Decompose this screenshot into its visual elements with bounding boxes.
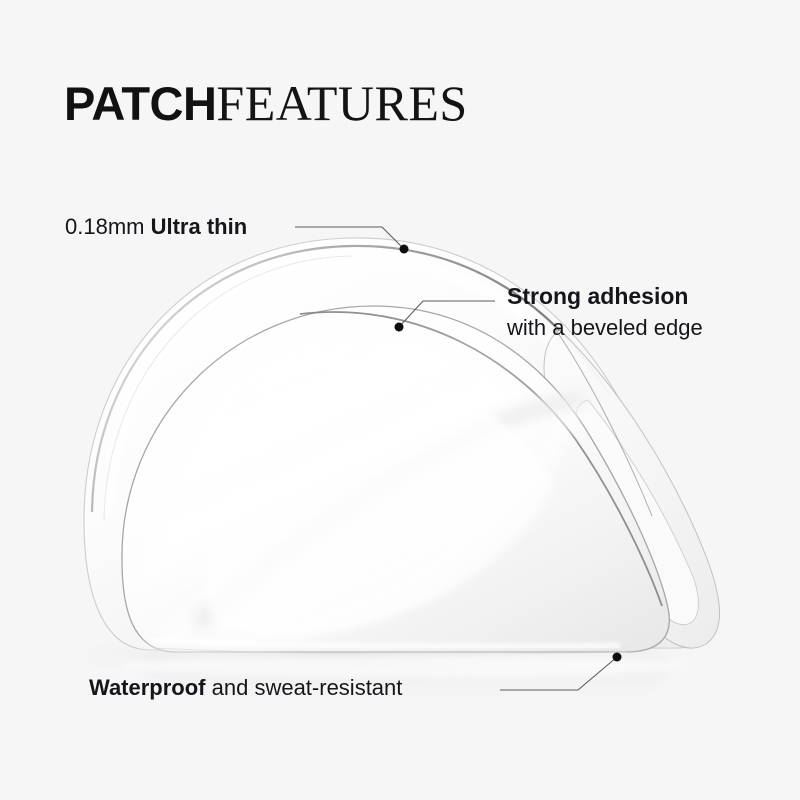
leader-strong-adhesion <box>395 301 496 332</box>
infographic-canvas: PATCHFEATURES 0.18mm Ultra thin Strong a… <box>0 0 800 800</box>
callout-strong-adhesion-emphasis: Strong adhesion <box>507 283 688 309</box>
leader-ultra-thin <box>295 227 409 254</box>
callout-ultra-thin-prefix: 0.18mm <box>65 214 151 239</box>
callout-dot-ultra-thin <box>400 245 409 254</box>
callout-waterproof: Waterproof and sweat-resistant <box>89 674 402 701</box>
callout-waterproof-suffix: and sweat-resistant <box>206 675 403 700</box>
callout-dot-waterproof <box>613 653 622 662</box>
callout-waterproof-emphasis: Waterproof <box>89 675 206 700</box>
callout-strong-adhesion: Strong adhesion with a beveled edge <box>507 282 703 341</box>
callout-ultra-thin: 0.18mm Ultra thin <box>65 213 247 240</box>
leader-waterproof <box>500 653 622 691</box>
callout-dot-strong-adhesion <box>395 323 404 332</box>
callout-ultra-thin-emphasis: Ultra thin <box>151 214 248 239</box>
callout-strong-adhesion-subline: with a beveled edge <box>507 314 703 341</box>
